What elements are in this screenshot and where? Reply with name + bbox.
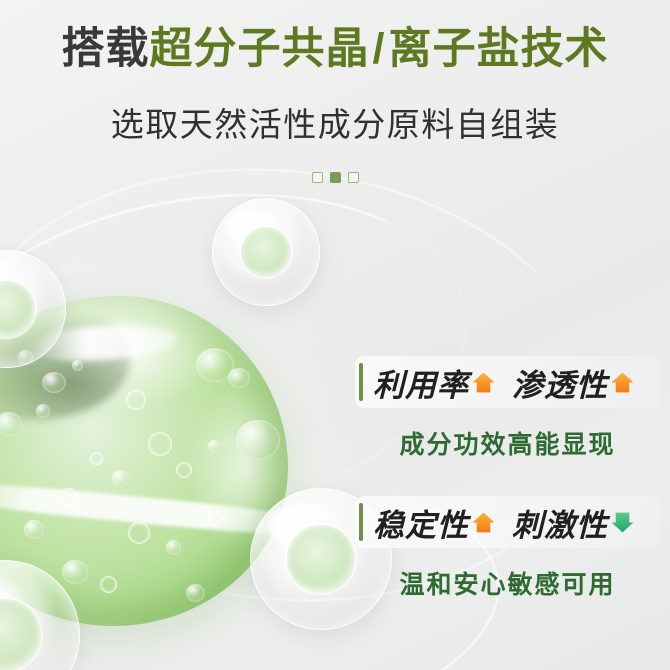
gel-sphere-highlight (27, 321, 179, 365)
bubble (24, 520, 44, 539)
bubble (72, 360, 83, 371)
glass-torus-bottom-left (0, 560, 80, 670)
feature-label-utilization: 利用率 (373, 360, 469, 405)
bubble (208, 440, 220, 452)
trend-down-arrow-icon (610, 510, 635, 535)
feature-pill: 利用率 渗透性 (355, 356, 660, 408)
bubble (90, 452, 103, 465)
trend-up-arrow-icon (610, 370, 635, 395)
feature-label-penetration: 渗透性 (512, 360, 608, 405)
bubble (176, 462, 192, 478)
green-gel-sphere (0, 296, 288, 626)
feature-pill-text: 利用率 渗透性 (373, 360, 637, 405)
trend-up-arrow-icon (471, 510, 496, 535)
bubble (148, 432, 172, 456)
bubble (36, 404, 50, 418)
bubble (18, 350, 33, 365)
feature-block-safety: 稳定性 刺激性 温和安心敏感可用 (355, 496, 660, 601)
pagination-dots[interactable] (0, 172, 670, 183)
headline-separator: / (370, 25, 389, 73)
headline-highlight-b: 离子盐技术 (388, 25, 608, 73)
feature-caption: 成分功效高能显现 (355, 425, 660, 461)
headline-prefix: 搭载 (62, 25, 150, 73)
pagination-dot-2-active[interactable] (330, 172, 341, 183)
bubble (60, 488, 78, 506)
bubble (166, 540, 181, 555)
pagination-dot-1[interactable] (312, 172, 323, 183)
bubble (228, 368, 250, 388)
bubble (112, 470, 129, 487)
bubble (208, 512, 222, 526)
feature-label-irritation: 刺激性 (512, 500, 608, 545)
feature-caption: 温和安心敏感可用 (355, 565, 660, 601)
trend-up-arrow-icon (471, 370, 496, 395)
headline: 搭载超分子共晶/离子盐技术 (0, 24, 670, 75)
bubble (62, 560, 88, 584)
bubble (126, 390, 146, 410)
headline-highlight-a: 超分子共晶 (150, 25, 370, 73)
bubble (42, 372, 66, 393)
gel-sphere-shadow (0, 300, 130, 420)
glass-torus-top (212, 198, 320, 306)
feature-pill: 稳定性 刺激性 (355, 496, 660, 548)
product-feature-banner: 搭载超分子共晶/离子盐技术 选取天然活性成分原料自组装 利用率 渗透性 (0, 0, 670, 670)
subheadline: 选取天然活性成分原料自组装 (0, 98, 670, 146)
feature-pill-text: 稳定性 刺激性 (373, 500, 637, 545)
bubble (236, 420, 280, 460)
bubble (100, 576, 117, 593)
bubble (196, 348, 234, 382)
bubble (128, 522, 150, 544)
pagination-dot-3[interactable] (348, 172, 359, 183)
glass-torus-left (0, 250, 66, 368)
feature-label-stability: 稳定性 (373, 500, 469, 545)
feature-block-absorption: 利用率 渗透性 成分功效高能显现 (355, 356, 660, 461)
bubble (0, 412, 22, 436)
bubble (186, 584, 205, 602)
gel-sphere-seam (0, 477, 330, 541)
